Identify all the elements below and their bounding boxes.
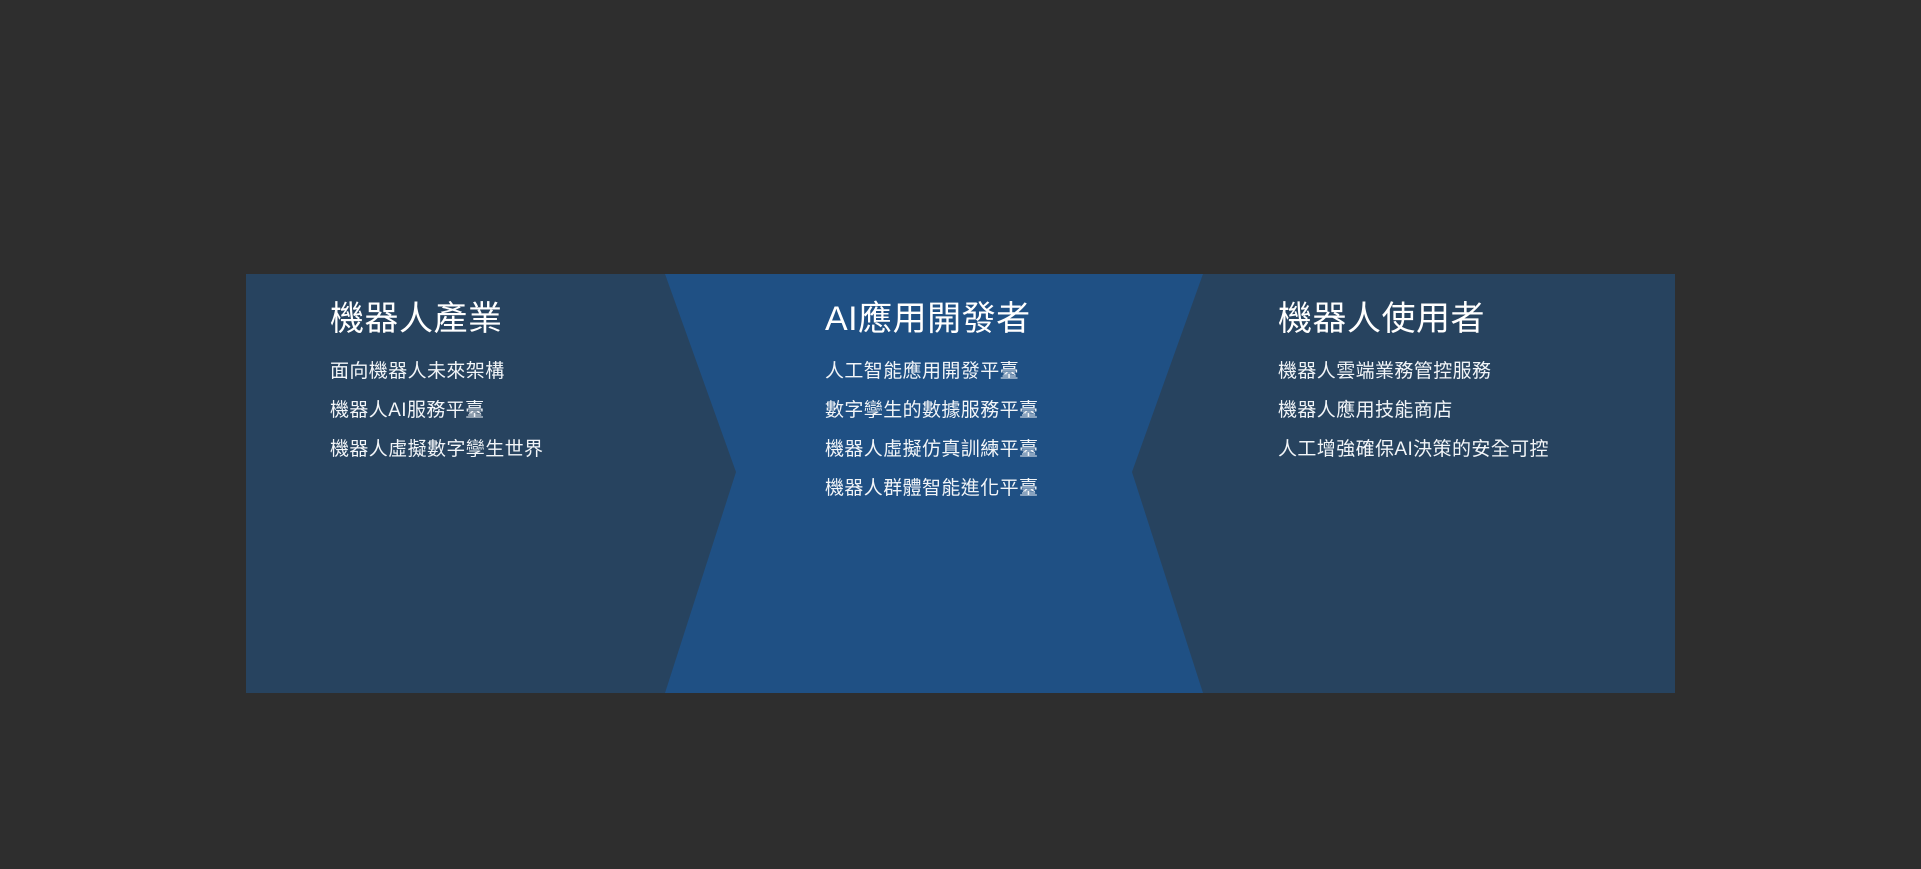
stage-heading-robot-user: 機器人使用者 xyxy=(1278,299,1485,339)
list-item: 機器人應用技能商店 xyxy=(1278,395,1549,427)
stage-list-robot-user: 機器人雲端業務管控服務 機器人應用技能商店 人工增強確保AI決策的安全可控 xyxy=(1278,356,1549,466)
list-item: 機器人AI服務平臺 xyxy=(330,395,543,427)
stage-list-ai-app-developer: 人工智能應用開發平臺 數字孿生的數據服務平臺 機器人虛擬仿真訓練平臺 機器人群體… xyxy=(825,356,1038,505)
list-item: 人工增強確保AI決策的安全可控 xyxy=(1278,434,1549,466)
list-item: 面向機器人未來架構 xyxy=(330,356,543,388)
chevron-process-diagram: 機器人產業 面向機器人未來架構 機器人AI服務平臺 機器人虛擬數字孿生世界 AI… xyxy=(246,274,1675,693)
list-item: 機器人雲端業務管控服務 xyxy=(1278,356,1549,388)
list-item: 機器人群體智能進化平臺 xyxy=(825,473,1038,505)
stage-column-robot-industry[interactable]: 機器人產業 面向機器人未來架構 機器人AI服務平臺 機器人虛擬數字孿生世界 xyxy=(330,274,660,693)
stage-heading-ai-app-developer: AI應用開發者 xyxy=(825,299,1031,339)
list-item: 機器人虛擬數字孿生世界 xyxy=(330,434,543,466)
stage-column-ai-app-developer[interactable]: AI應用開發者 人工智能應用開發平臺 數字孿生的數據服務平臺 機器人虛擬仿真訓練… xyxy=(825,274,1155,693)
list-item: 人工智能應用開發平臺 xyxy=(825,356,1038,388)
list-item: 數字孿生的數據服務平臺 xyxy=(825,395,1038,427)
slide-canvas: 機器人產業 面向機器人未來架構 機器人AI服務平臺 機器人虛擬數字孿生世界 AI… xyxy=(0,0,1921,869)
stage-heading-robot-industry: 機器人產業 xyxy=(330,299,503,339)
list-item: 機器人虛擬仿真訓練平臺 xyxy=(825,434,1038,466)
stage-column-robot-user[interactable]: 機器人使用者 機器人雲端業務管控服務 機器人應用技能商店 人工增強確保AI決策的… xyxy=(1278,274,1638,693)
stage-list-robot-industry: 面向機器人未來架構 機器人AI服務平臺 機器人虛擬數字孿生世界 xyxy=(330,356,543,466)
